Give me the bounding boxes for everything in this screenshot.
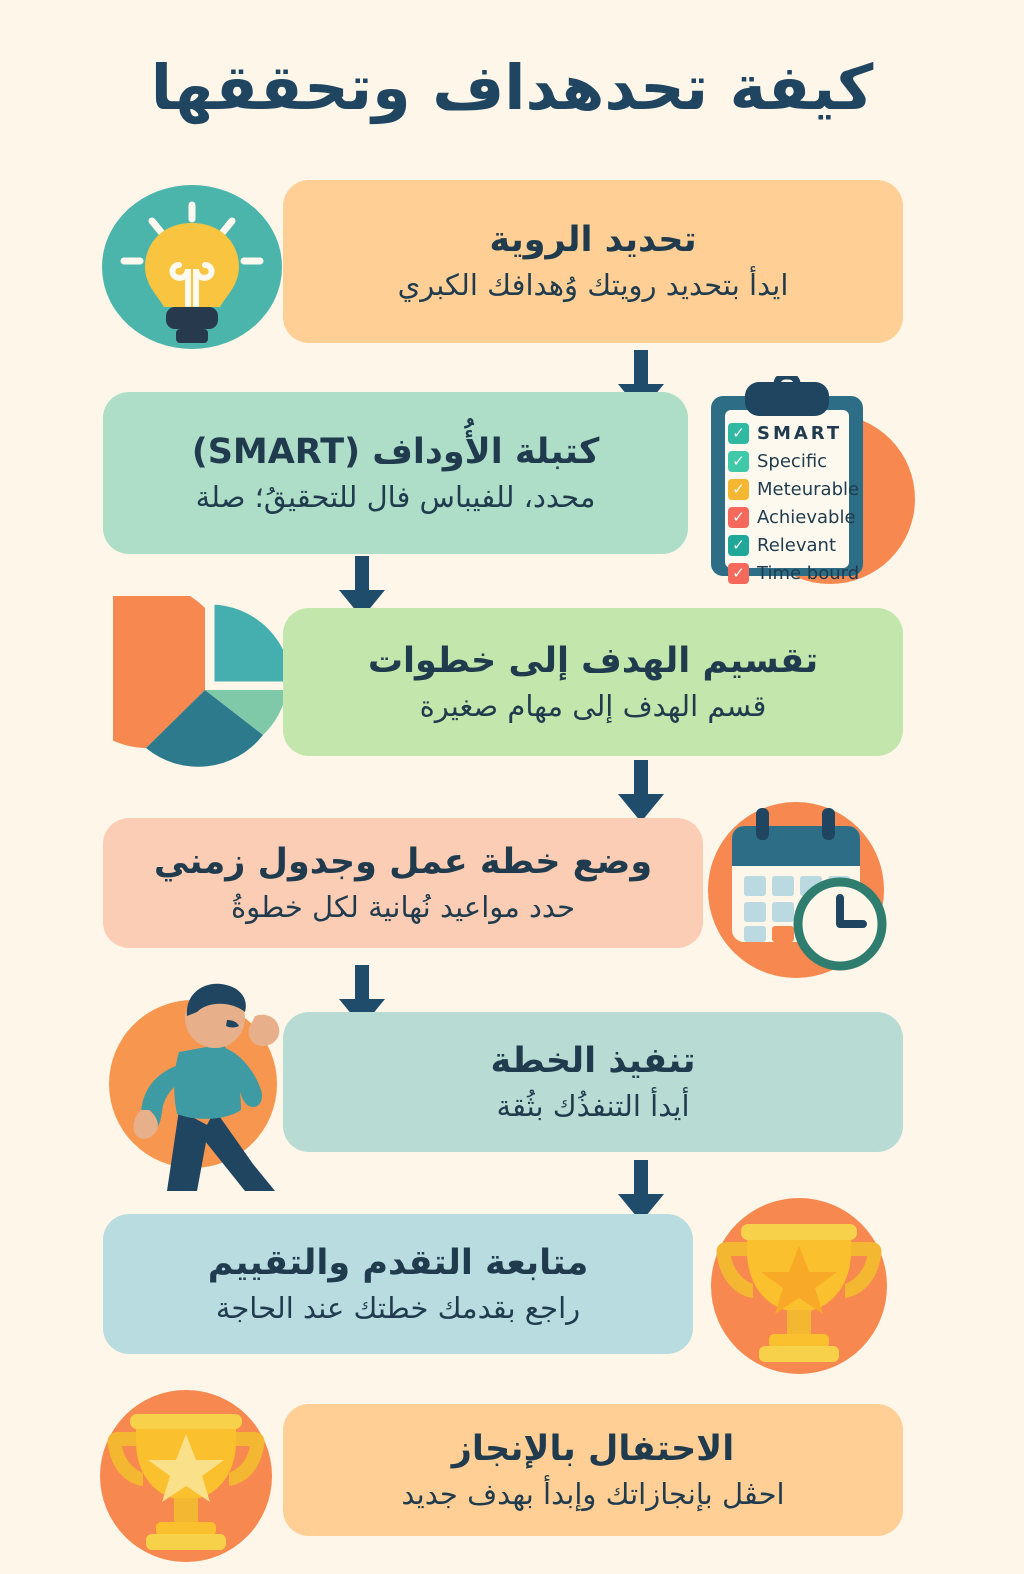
clipboard-checklist: ✓ SMART ✓ Specific ✓ Meteurable ✓ Achiev… — [728, 420, 859, 586]
clipboard-row: ✓ Time bourd — [728, 560, 859, 586]
step-row-7: الاحتفال بالإنجاز احڤل بإنجازاتك وإبدأ ب… — [0, 1404, 1024, 1574]
step-desc-4: حدد مواعيد نُهانية لكل خطوةُ — [231, 889, 575, 925]
clipboard-row: ✓ Specific — [728, 448, 859, 474]
clipboard-row: ✓ Meteurable — [728, 476, 859, 502]
step-desc-5: أيدأ التنفذُك بثُقة — [496, 1088, 689, 1124]
trophy-icon — [707, 1198, 892, 1378]
clipboard-label: Specific — [757, 451, 827, 472]
step-title-7: الاحتفال بالإنجاز — [452, 1428, 734, 1470]
clipboard-row: ✓ Achievable — [728, 504, 859, 530]
step-card-5[interactable]: تنفيذ الخطة أيدأ التنفذُك بثُقة — [283, 1012, 903, 1152]
step-row-4: وضع خطة عمل وجدول زمني حدد مواعيد نُهاني… — [0, 818, 1024, 988]
check-icon: ✓ — [728, 507, 749, 528]
check-icon: ✓ — [728, 451, 749, 472]
step-card-4[interactable]: وضع خطة عمل وجدول زمني حدد مواعيد نُهاني… — [103, 818, 703, 948]
step-row-2: كتبلة الأُوداف (SMART) محدد، للفيباس فال… — [0, 392, 1024, 562]
step-row-5: تنفيذ الخطة أيدأ التنفذُك بثُقة — [0, 1012, 1024, 1182]
infographic-page: كيفة تحدهداف وتحققها تحديد الروية — [0, 0, 1024, 1536]
clipboard-label: SMART — [757, 423, 842, 444]
step-title-4: وضع خطة عمل وجدول زمني — [154, 841, 652, 883]
step-card-7[interactable]: الاحتفال بالإنجاز احڤل بإنجازاتك وإبدأ ب… — [283, 1404, 903, 1536]
step-desc-2: محدد، للفيباس فال للتحقيقُ؛ صلة — [196, 479, 596, 515]
step-title-3: تقسيم الهدف إلى خطوات — [368, 640, 818, 682]
clipboard-row: ✓ Relevant — [728, 532, 859, 558]
check-icon: ✓ — [728, 535, 749, 556]
step-title-2: كتبلة الأُوداف (SMART) — [192, 431, 600, 473]
trophy-icon — [96, 1390, 276, 1565]
lightbulb-icon — [100, 185, 285, 350]
clipboard-label: Meteurable — [757, 479, 859, 500]
step-row-1: تحديد الروية ايدأ بتحديد رويتك وُهدافك ا… — [0, 180, 1024, 350]
step-card-3[interactable]: تقسيم الهدف إلى خطوات قسم الهدف إلى مهام… — [283, 608, 903, 756]
arrow-down-icon-3 — [614, 760, 668, 826]
clipboard-row: ✓ SMART — [728, 420, 859, 446]
pie-chart-icon — [113, 596, 303, 781]
step-title-6: متابعة التقدم والتقييم — [208, 1242, 588, 1284]
step-desc-6: راجع بقدمك خطتك عند الحاجة — [216, 1290, 580, 1326]
step-desc-1: ايدأ بتحديد رويتك وُهدافك الكبري — [398, 267, 789, 303]
step-desc-7: احڤل بإنجازاتك وإبدأ بهدف جديد — [401, 1476, 784, 1512]
step-desc-3: قسم الهدف إلى مهام صغيرة — [420, 688, 767, 724]
page-title: كيفة تحدهداف وتحققها — [0, 52, 1024, 123]
step-title-5: تنفيذ الخطة — [491, 1040, 696, 1082]
step-card-2[interactable]: كتبلة الأُوداف (SMART) محدد، للفيباس فال… — [103, 392, 688, 554]
step-title-1: تحديد الروية — [489, 219, 696, 261]
step-card-6[interactable]: متابعة التقدم والتقييم راجع بقدمك خطتك ع… — [103, 1214, 693, 1354]
step-card-1[interactable]: تحديد الروية ايدأ بتحديد رويتك وُهدافك ا… — [283, 180, 903, 343]
clipboard-label: Relevant — [757, 535, 836, 556]
check-icon: ✓ — [728, 479, 749, 500]
step-row-6: متابعة التقدم والتقييم راجع بقدمك خطتك ع… — [0, 1214, 1024, 1384]
clipboard-label: Achievable — [757, 507, 856, 528]
check-icon: ✓ — [728, 563, 749, 584]
walking-person-icon — [105, 976, 305, 1191]
calendar-clock-icon — [700, 798, 895, 983]
step-row-3: تقسيم الهدف إلى خطوات قسم الهدف إلى مهام… — [0, 608, 1024, 778]
clipboard-label: Time bourd — [757, 563, 859, 584]
check-icon: ✓ — [728, 423, 749, 444]
